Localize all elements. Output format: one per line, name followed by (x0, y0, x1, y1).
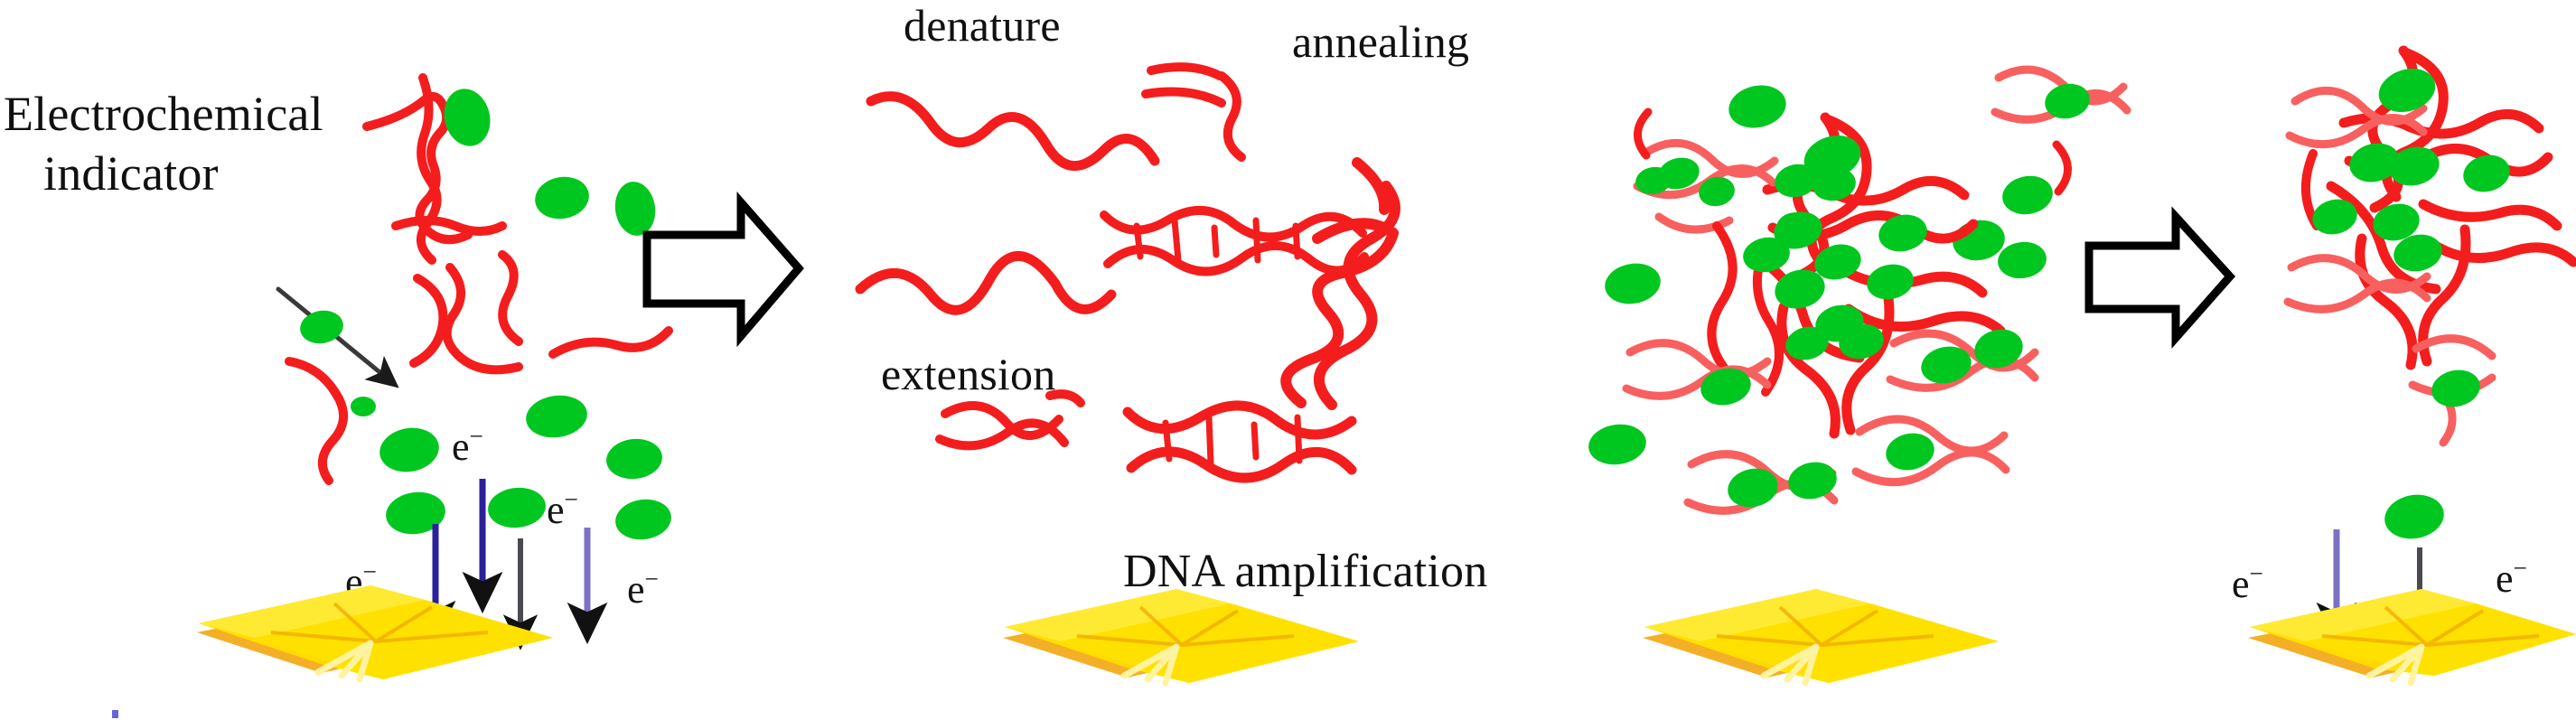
panel-2-double-helix-3 (1128, 406, 1352, 478)
electron-minus-sign: − (2514, 555, 2527, 582)
denature-label: denature (904, 0, 1061, 51)
extension-label: extension (881, 349, 1055, 399)
electrochemical-indicator-label-line1: Electrochemical (4, 87, 323, 141)
electron-minus-sign: − (645, 566, 659, 593)
panel-2-extension-strands (940, 394, 1081, 445)
electron-label-p1-b: e− (547, 486, 577, 533)
panel-3-free-indicators (1586, 80, 2056, 468)
dna-amplification-label: DNA amplification (1123, 546, 1487, 598)
panel-1-indicators (297, 84, 674, 543)
panel-2-denature-fragment (1146, 67, 1241, 157)
panel-4-amplified-dna (2288, 51, 2573, 443)
electron-minus-sign: − (565, 486, 578, 513)
panel-1-dna-strands (289, 78, 669, 481)
electron-symbol: e (627, 567, 645, 612)
indicator-pointer-arrow (278, 289, 389, 379)
panel-3-amplified-dna (1626, 70, 2127, 510)
gold-electrode-4 (2248, 589, 2576, 683)
panel-4-electron-arrows (2337, 529, 2420, 638)
panel-2-double-helix-2 (1286, 163, 1395, 405)
electron-label-p4-b: e− (2496, 555, 2526, 602)
panel-2-double-helix-1 (1104, 210, 1364, 272)
electron-symbol: e (2496, 556, 2514, 601)
electron-symbol: e (547, 488, 565, 532)
electron-symbol: e (345, 560, 363, 604)
panel-3-bound-indicators (1634, 79, 2094, 511)
panel-3-group (1586, 70, 2127, 683)
electron-minus-sign: − (470, 423, 483, 450)
electron-label-p1-d: e− (627, 566, 658, 612)
annealing-label: annealing (1292, 16, 1469, 67)
scan-speck (112, 710, 118, 718)
block-arrow-2 (2089, 217, 2230, 338)
panel-4-bound-indicators (2309, 61, 2514, 411)
figure-artwork (0, 0, 2576, 720)
electron-symbol: e (452, 425, 470, 469)
electron-symbol: e (2232, 562, 2250, 606)
gold-electrode-3 (1643, 589, 1999, 683)
panel-4-group (2248, 51, 2576, 683)
electron-label-p4-a: e− (2232, 560, 2262, 607)
gold-electrode-2 (1003, 589, 1359, 683)
electron-label-p1-c: e− (345, 558, 376, 605)
electron-label-p1-a: e− (452, 423, 482, 470)
panel-2-single-strands (860, 97, 1155, 311)
block-arrow-1 (647, 202, 799, 336)
panel-4-free-indicators (2381, 491, 2447, 544)
electrochemical-indicator-label-line2: indicator (43, 146, 219, 201)
figure-canvas: Electrochemical indicator denature annea… (0, 0, 2576, 720)
electron-minus-sign: − (363, 558, 377, 585)
electron-minus-sign: − (2250, 560, 2263, 587)
panel-1-group (197, 78, 674, 679)
